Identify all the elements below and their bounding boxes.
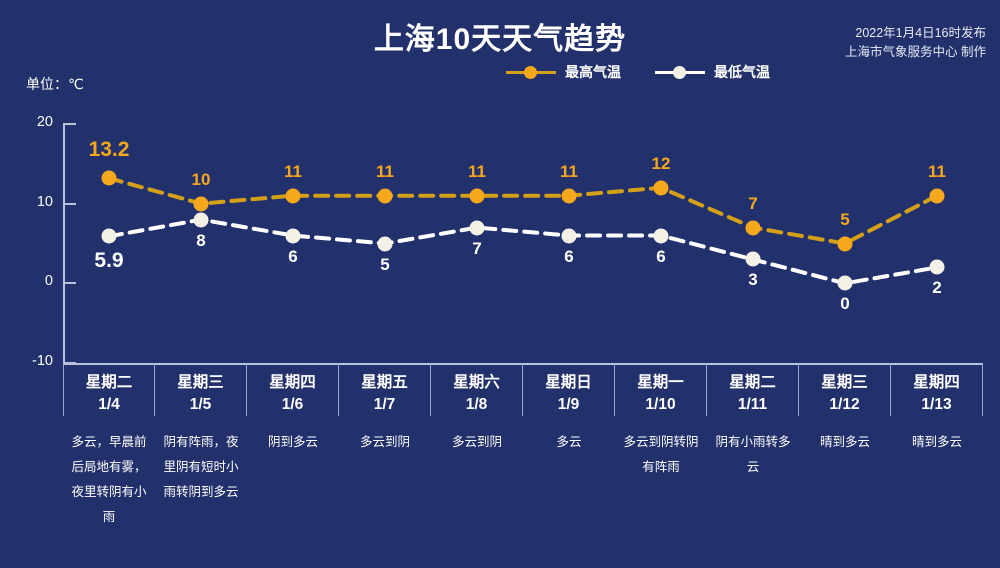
day-header-cell[interactable]: 星期三1/12 bbox=[799, 363, 891, 416]
data-point-marker bbox=[194, 196, 209, 211]
data-point-marker bbox=[102, 229, 117, 244]
day-header-row: 星期二1/4星期三1/5星期四1/6星期五1/7星期六1/8星期日1/9星期一1… bbox=[63, 363, 983, 416]
day-weekday: 星期二 bbox=[86, 372, 133, 394]
data-point-label: 6 bbox=[656, 247, 665, 267]
day-date: 1/9 bbox=[558, 394, 580, 416]
data-point-marker bbox=[562, 228, 577, 243]
day-weekday: 星期三 bbox=[821, 372, 868, 394]
data-point-marker bbox=[286, 228, 301, 243]
day-header-cell[interactable]: 星期五1/7 bbox=[339, 363, 431, 416]
data-point-label: 0 bbox=[840, 294, 849, 314]
data-point-label: 7 bbox=[748, 194, 757, 214]
day-weather-description: 阴有阵雨，夜里阴有短时小雨转阴到多云 bbox=[155, 430, 247, 530]
data-point-marker bbox=[654, 180, 669, 195]
data-point-label: 12 bbox=[652, 154, 671, 174]
temperature-chart: 20100-10 13.210111111111275115.986576630… bbox=[0, 100, 1000, 390]
day-weather-description: 多云，早晨前后局地有雾，夜里转阴有小雨 bbox=[63, 430, 155, 530]
data-point-label: 10 bbox=[192, 170, 211, 190]
day-header-cell[interactable]: 星期二1/4 bbox=[63, 363, 155, 416]
day-header-cell[interactable]: 星期一1/10 bbox=[615, 363, 707, 416]
day-weather-description: 多云到阴 bbox=[431, 430, 523, 530]
data-point-label: 6 bbox=[564, 247, 573, 267]
day-header-cell[interactable]: 星期四1/6 bbox=[247, 363, 339, 416]
data-point-label: 11 bbox=[560, 162, 578, 182]
data-point-marker bbox=[838, 236, 853, 251]
day-weather-description: 晴到多云 bbox=[891, 430, 983, 530]
day-date: 1/5 bbox=[190, 394, 212, 416]
day-date: 1/7 bbox=[374, 394, 396, 416]
unit-label: 单位：℃ bbox=[26, 74, 84, 94]
day-date: 1/12 bbox=[829, 394, 859, 416]
legend-low-label: 最低气温 bbox=[714, 62, 770, 82]
data-point-marker bbox=[470, 220, 485, 235]
publish-info: 2022年1月4日16时发布 上海市气象服务中心 制作 bbox=[845, 24, 986, 62]
data-point-label: 11 bbox=[928, 162, 946, 182]
data-point-marker bbox=[286, 188, 301, 203]
data-point-marker bbox=[746, 220, 761, 235]
data-point-marker bbox=[470, 188, 485, 203]
day-weekday: 星期日 bbox=[545, 372, 592, 394]
data-point-label: 7 bbox=[472, 239, 481, 259]
legend-low-marker-icon bbox=[655, 65, 705, 79]
chart-legend: 最高气温 最低气温 bbox=[506, 62, 770, 82]
day-weather-description: 阴到多云 bbox=[247, 430, 339, 530]
day-header-cell[interactable]: 星期日1/9 bbox=[523, 363, 615, 416]
data-point-label: 5.9 bbox=[94, 249, 123, 273]
day-weather-description: 阴有小雨转多云 bbox=[707, 430, 799, 530]
weather-trend-infographic: 上海10天天气趋势 2022年1月4日16时发布 上海市气象服务中心 制作 单位… bbox=[0, 0, 1000, 568]
data-point-label: 11 bbox=[376, 162, 394, 182]
day-weather-description: 多云到阴 bbox=[339, 430, 431, 530]
series-line bbox=[109, 220, 937, 284]
data-point-marker bbox=[838, 276, 853, 291]
data-point-label: 13.2 bbox=[89, 138, 130, 162]
day-header-cell[interactable]: 星期四1/13 bbox=[891, 363, 983, 416]
data-point-label: 11 bbox=[468, 162, 486, 182]
legend-high-marker-icon bbox=[506, 65, 556, 79]
day-weather-description: 多云到阴转阴有阵雨 bbox=[615, 430, 707, 530]
day-date: 1/6 bbox=[282, 394, 304, 416]
day-weekday: 星期二 bbox=[729, 372, 776, 394]
day-weekday: 星期四 bbox=[913, 372, 960, 394]
day-date: 1/10 bbox=[645, 394, 675, 416]
data-point-label: 6 bbox=[288, 247, 297, 267]
data-point-label: 5 bbox=[840, 210, 849, 230]
legend-item-high: 最高气温 bbox=[506, 62, 621, 82]
day-date: 1/13 bbox=[921, 394, 951, 416]
data-point-label: 5 bbox=[380, 255, 389, 275]
day-date: 1/11 bbox=[738, 394, 767, 416]
data-point-marker bbox=[746, 252, 761, 267]
data-point-marker bbox=[194, 212, 209, 227]
data-point-label: 8 bbox=[196, 231, 205, 251]
day-weekday: 星期五 bbox=[361, 372, 408, 394]
day-weather-description: 多云 bbox=[523, 430, 615, 530]
day-weekday: 星期六 bbox=[453, 372, 500, 394]
day-description-row: 多云，早晨前后局地有雾，夜里转阴有小雨阴有阵雨，夜里阴有短时小雨转阴到多云阴到多… bbox=[63, 430, 983, 530]
legend-high-label: 最高气温 bbox=[565, 62, 621, 82]
data-point-marker bbox=[654, 228, 669, 243]
data-point-marker bbox=[378, 236, 393, 251]
publish-time: 2022年1月4日16时发布 bbox=[845, 24, 986, 43]
data-point-marker bbox=[378, 188, 393, 203]
day-weekday: 星期三 bbox=[177, 372, 224, 394]
data-point-marker bbox=[562, 188, 577, 203]
day-date: 1/4 bbox=[98, 394, 120, 416]
data-point-marker bbox=[930, 188, 945, 203]
day-weekday: 星期四 bbox=[269, 372, 316, 394]
data-point-label: 2 bbox=[932, 278, 941, 298]
day-weekday: 星期一 bbox=[637, 372, 684, 394]
series-line bbox=[109, 178, 937, 243]
publisher-name: 上海市气象服务中心 制作 bbox=[845, 43, 986, 62]
day-header-cell[interactable]: 星期三1/5 bbox=[155, 363, 247, 416]
day-header-cell[interactable]: 星期六1/8 bbox=[431, 363, 523, 416]
legend-item-low: 最低气温 bbox=[655, 62, 770, 82]
data-point-marker bbox=[930, 260, 945, 275]
data-point-marker bbox=[102, 171, 117, 186]
data-point-label: 11 bbox=[284, 162, 302, 182]
day-weather-description: 晴到多云 bbox=[799, 430, 891, 530]
day-date: 1/8 bbox=[466, 394, 488, 416]
day-header-cell[interactable]: 星期二1/11 bbox=[707, 363, 799, 416]
data-point-label: 3 bbox=[748, 270, 757, 290]
